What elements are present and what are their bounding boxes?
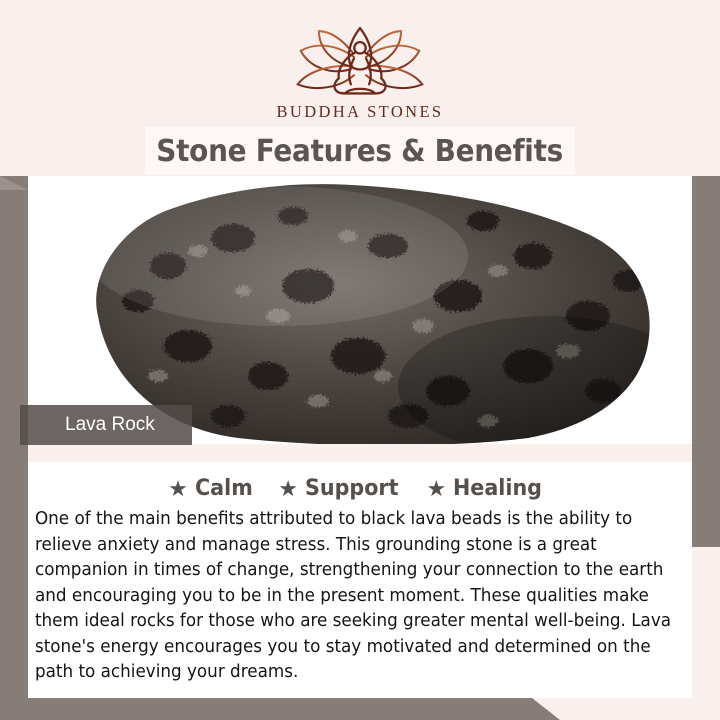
title-banner: Stone Features & Benefits [145, 127, 575, 175]
keyword-calm: ★ Calm [168, 476, 256, 501]
benefit-paragraph: One of the main benefits attributed to b… [34, 507, 681, 686]
header: BUDDHA STONES Stone Features & Benefits [0, 0, 720, 176]
stone-name-label-bar: Lava Rock [20, 405, 192, 445]
page-title: Stone Features & Benefits [157, 134, 564, 169]
keyword-label: Support [305, 476, 399, 501]
keywords-row: ★ Calm ★ Support ★ Healing [34, 476, 682, 501]
photo-panel [28, 176, 692, 444]
brand-block: BUDDHA STONES [276, 22, 443, 122]
keyword-healing: ★ Healing [427, 476, 548, 501]
star-icon: ★ [427, 478, 447, 500]
brand-name: BUDDHA STONES [276, 102, 443, 122]
keyword-label: Calm [195, 476, 253, 501]
star-icon: ★ [168, 478, 188, 500]
frame-bottom-band [0, 698, 560, 720]
divider-strip [28, 444, 692, 462]
stone-name-label: Lava Rock [65, 414, 155, 436]
lava-rock-photo [28, 176, 692, 444]
content-panel: ★ Calm ★ Support ★ Healing One of the ma… [28, 462, 692, 698]
keyword-label: Healing [453, 476, 542, 501]
keyword-support: ★ Support [278, 476, 404, 501]
lotus-meditation-icon [284, 22, 436, 96]
star-icon: ★ [278, 478, 298, 500]
